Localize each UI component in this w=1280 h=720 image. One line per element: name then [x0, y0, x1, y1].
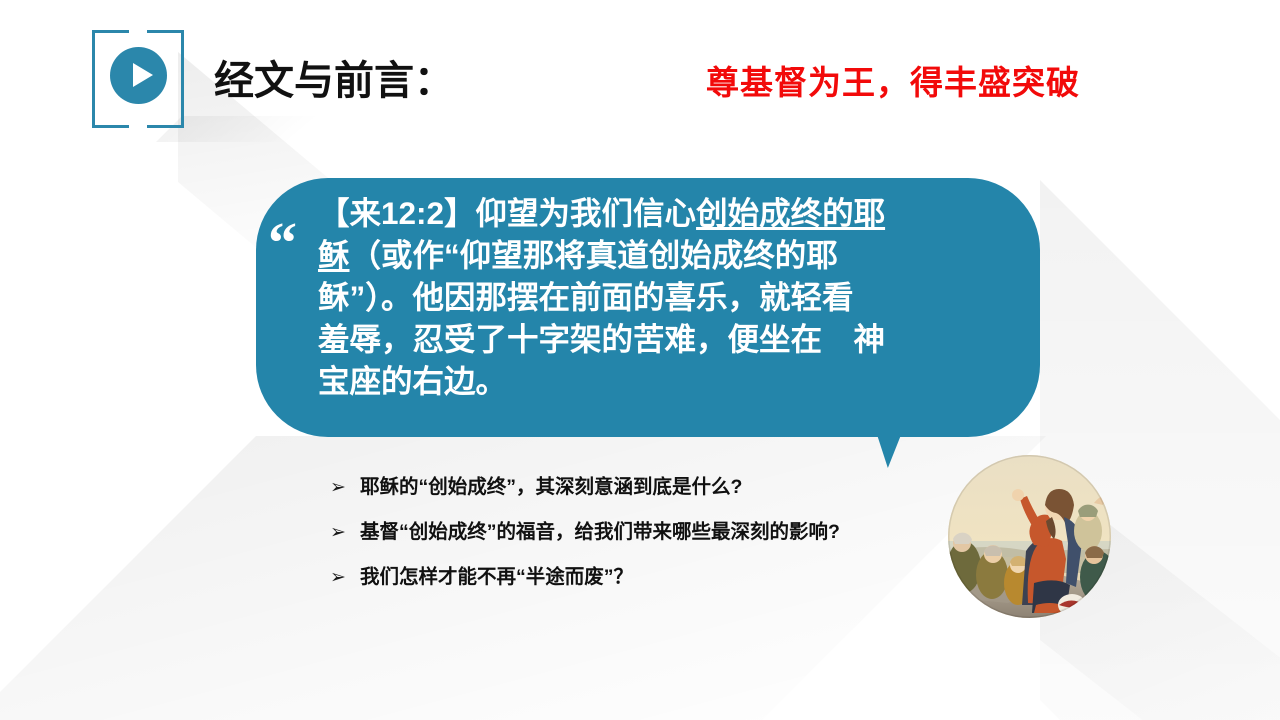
scripture-run: （或作“仰望那将真道创始成终的耶 — [350, 237, 838, 273]
scripture-run: 稣”）。他因那摆在前面的喜乐，就轻看 — [318, 279, 854, 315]
scripture-line: 羞辱，忍受了十字架的苦难，便坐在 神 — [318, 318, 1032, 360]
question-list: ➢耶稣的“创始成终”，其深刻意涵到底是什么?➢基督“创始成终”的福音，给我们带来… — [330, 474, 910, 609]
quote-bubble-tail — [876, 432, 928, 468]
bullet-arrow-icon: ➢ — [330, 519, 360, 545]
page-subtitle: 尊基督为王，得丰盛突破 — [706, 56, 1080, 104]
question-list-item: ➢基督“创始成终”的福音，给我们带来哪些最深刻的影响? — [330, 519, 910, 546]
question-list-item-label: 耶稣的“创始成终”，其深刻意涵到底是什么? — [360, 474, 910, 501]
painting-artwork — [948, 455, 1111, 618]
scripture-line: 【来12:2】仰望为我们信心创始成终的耶 — [318, 192, 1032, 234]
open-quote-mark: “ — [268, 214, 297, 272]
scripture-line: 稣（或作“仰望那将真道创始成终的耶 — [318, 234, 1032, 276]
scripture-underlined-run: 稣 — [318, 237, 350, 273]
sermon-on-the-mount-image — [948, 455, 1111, 618]
scripture-underlined-run: 创始成终的耶 — [696, 195, 885, 231]
page-title: 经文与前言： — [214, 48, 454, 106]
question-list-item-label: 基督“创始成终”的福音，给我们带来哪些最深刻的影响? — [360, 519, 910, 546]
question-list-item: ➢我们怎样才能不再“半途而废”？ — [330, 564, 910, 591]
bullet-arrow-icon: ➢ — [330, 474, 360, 500]
bubble-right-long-shadow — [1040, 180, 1280, 720]
play-circle-icon — [110, 47, 167, 104]
scripture-line: 宝座的右边。 — [318, 360, 1032, 402]
play-button-in-frame-icon — [92, 30, 184, 122]
scripture-text: 【来12:2】仰望为我们信心创始成终的耶稣（或作“仰望那将真道创始成终的耶稣”）… — [318, 192, 1032, 402]
question-list-item-label: 我们怎样才能不再“半途而废”？ — [360, 564, 910, 591]
scripture-run: 羞辱，忍受了十字架的苦难，便坐在 神 — [318, 321, 885, 357]
slide: 经文与前言： 尊基督为王，得丰盛突破 “ 【来12:2】仰望为我们信心创始成终的… — [0, 0, 1280, 720]
bullet-arrow-icon: ➢ — [330, 564, 360, 590]
scripture-run: 宝座的右边。 — [318, 363, 507, 399]
question-list-item: ➢耶稣的“创始成终”，其深刻意涵到底是什么? — [330, 474, 910, 501]
scripture-run: 【来12:2】仰望为我们信心 — [318, 195, 696, 231]
play-triangle-icon — [133, 63, 153, 87]
scripture-line: 稣”）。他因那摆在前面的喜乐，就轻看 — [318, 276, 1032, 318]
